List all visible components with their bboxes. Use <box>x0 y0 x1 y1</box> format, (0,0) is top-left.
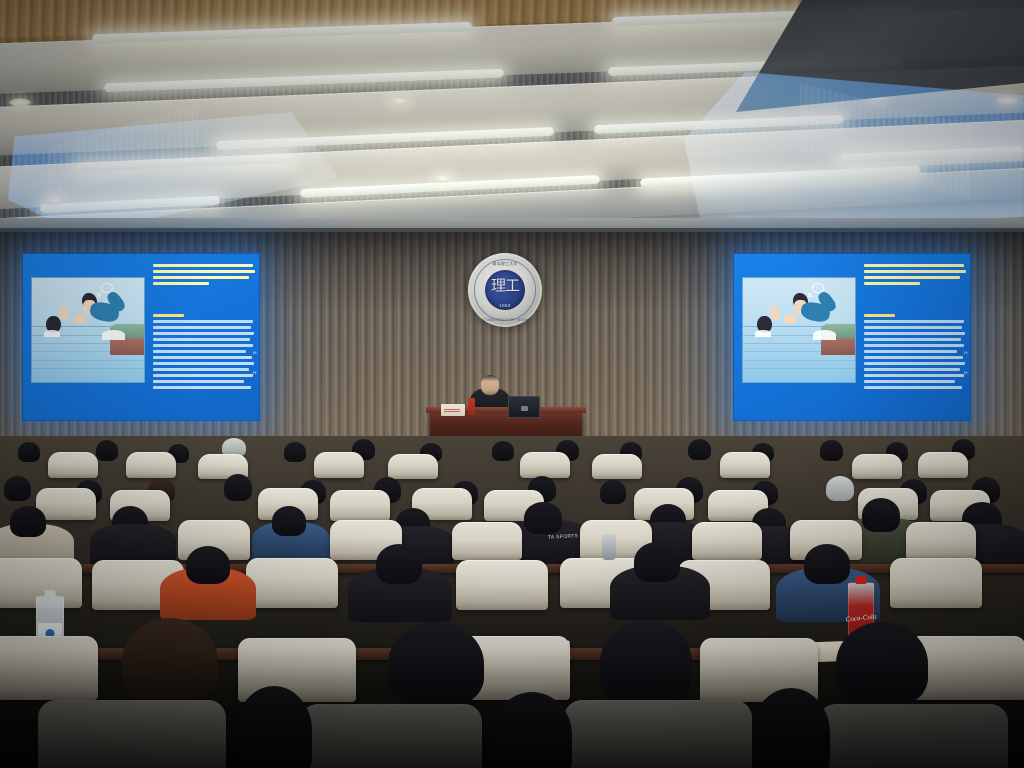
audience-member <box>96 440 118 461</box>
audience-member <box>376 544 422 584</box>
audience-member <box>284 442 306 462</box>
audience-member <box>186 546 230 584</box>
audience-member <box>388 622 484 706</box>
audience-member <box>836 622 928 706</box>
emblem-founding-year: 1953 <box>499 303 511 308</box>
water-splash <box>755 330 771 336</box>
auditorium-seat <box>330 490 390 521</box>
auditorium-seat <box>388 454 438 479</box>
projection-screen-left[interactable]: ” ” <box>22 253 260 421</box>
recessed-downlight <box>388 96 410 105</box>
recessed-downlight <box>9 98 31 107</box>
rock-ledge <box>821 324 856 355</box>
audience-member <box>4 476 31 501</box>
auditorium-seat <box>36 488 96 520</box>
drowning-child-arm <box>59 306 69 320</box>
auditorium-seat <box>918 452 968 478</box>
audience-member <box>752 688 830 768</box>
slide-text-pane: ” ” <box>153 254 259 420</box>
audience-area: TA SPORTS <box>0 436 1024 768</box>
slide-content-left: ” ” <box>23 254 259 420</box>
cartoon-rescue-drowning-child <box>31 277 145 383</box>
slide-illustration-pane <box>23 254 153 420</box>
emblem-english-name: QINGDAO UNIVERSITY OF TECHNOLOGY <box>468 318 542 322</box>
auditorium-seat <box>592 454 642 479</box>
audience-member <box>492 692 572 768</box>
auditorium-seat <box>818 704 1008 768</box>
auditorium-seat <box>452 522 522 560</box>
audience-member <box>634 542 680 582</box>
rescuer-hand <box>784 314 796 324</box>
slide-body-text <box>864 314 968 392</box>
quote-mark-icon: ” <box>252 370 257 380</box>
recessed-downlight <box>996 96 1018 105</box>
audience-member <box>600 480 626 504</box>
thought-bubble <box>812 283 823 292</box>
projection-screen-right[interactable]: ” ” <box>733 253 971 421</box>
audience-member <box>122 618 218 704</box>
audience-member <box>804 544 850 584</box>
slide-text-pane: ” ” <box>864 254 970 420</box>
lecture-hall-photo: ” ” <box>0 0 1024 768</box>
slide-content-right: ” ” <box>734 254 970 420</box>
audience-member <box>600 620 692 706</box>
podium-laptop <box>508 396 540 418</box>
auditorium-seat <box>48 452 98 478</box>
auditorium-seat <box>126 452 176 478</box>
audience-member <box>10 506 46 537</box>
rock-ledge <box>110 324 145 355</box>
audience-member <box>272 506 306 536</box>
university-emblem: 青岛理工大学 理工 1953 QINGDAO UNIVERSITY OF TEC… <box>468 253 542 327</box>
audience-member <box>820 440 843 461</box>
laptop-screen-glow <box>521 406 528 411</box>
slide-body-text <box>153 314 257 392</box>
thought-bubble <box>97 293 101 297</box>
podium-papers <box>441 404 465 416</box>
podium-red-container <box>468 398 475 415</box>
quote-mark-icon: ” <box>252 350 257 360</box>
emblem-chinese-name: 青岛理工大学 <box>492 261 517 267</box>
auditorium-seat <box>38 700 226 768</box>
water-splash <box>44 330 60 336</box>
audience-member <box>224 474 252 501</box>
rescuer-hand <box>73 314 85 324</box>
thought-bubble <box>808 293 812 297</box>
auditorium-seat <box>564 700 752 768</box>
quote-mark-icon: ” <box>963 350 968 360</box>
auditorium-seat <box>520 452 570 478</box>
auditorium-seat <box>246 558 338 608</box>
audience-member <box>524 502 562 534</box>
auditorium-seat <box>720 452 770 478</box>
audience-member <box>236 686 312 768</box>
presenter-head <box>481 375 499 395</box>
auditorium-seat <box>906 522 976 560</box>
auditorium-seat <box>456 560 548 610</box>
auditorium-seat <box>300 704 482 768</box>
thought-bubble <box>101 283 112 292</box>
quote-mark-icon: ” <box>963 370 968 380</box>
thermos-cup <box>602 534 616 560</box>
recessed-downlight <box>432 174 454 183</box>
auditorium-seat <box>0 636 98 700</box>
emblem-glyph: 理工 <box>491 280 519 295</box>
auditorium-seat <box>692 522 762 560</box>
bottle-cap <box>856 576 867 584</box>
slide-heading <box>864 264 968 288</box>
water-splash <box>102 330 124 339</box>
audience-member <box>862 498 900 532</box>
audience-member <box>826 476 854 501</box>
auditorium-seat <box>852 454 902 479</box>
slide-illustration-pane <box>734 254 864 420</box>
ceiling-assembly <box>0 0 1024 236</box>
audience-member <box>18 442 40 462</box>
bottle-cap <box>45 590 56 598</box>
auditorium-seat <box>314 452 364 478</box>
drowning-child-arm <box>770 306 780 320</box>
cartoon-rescue-drowning-child <box>742 277 856 383</box>
water-splash <box>813 330 835 339</box>
audience-member <box>492 441 514 461</box>
audience-member <box>688 439 711 460</box>
slide-heading <box>153 264 257 288</box>
auditorium-seat <box>890 558 982 608</box>
